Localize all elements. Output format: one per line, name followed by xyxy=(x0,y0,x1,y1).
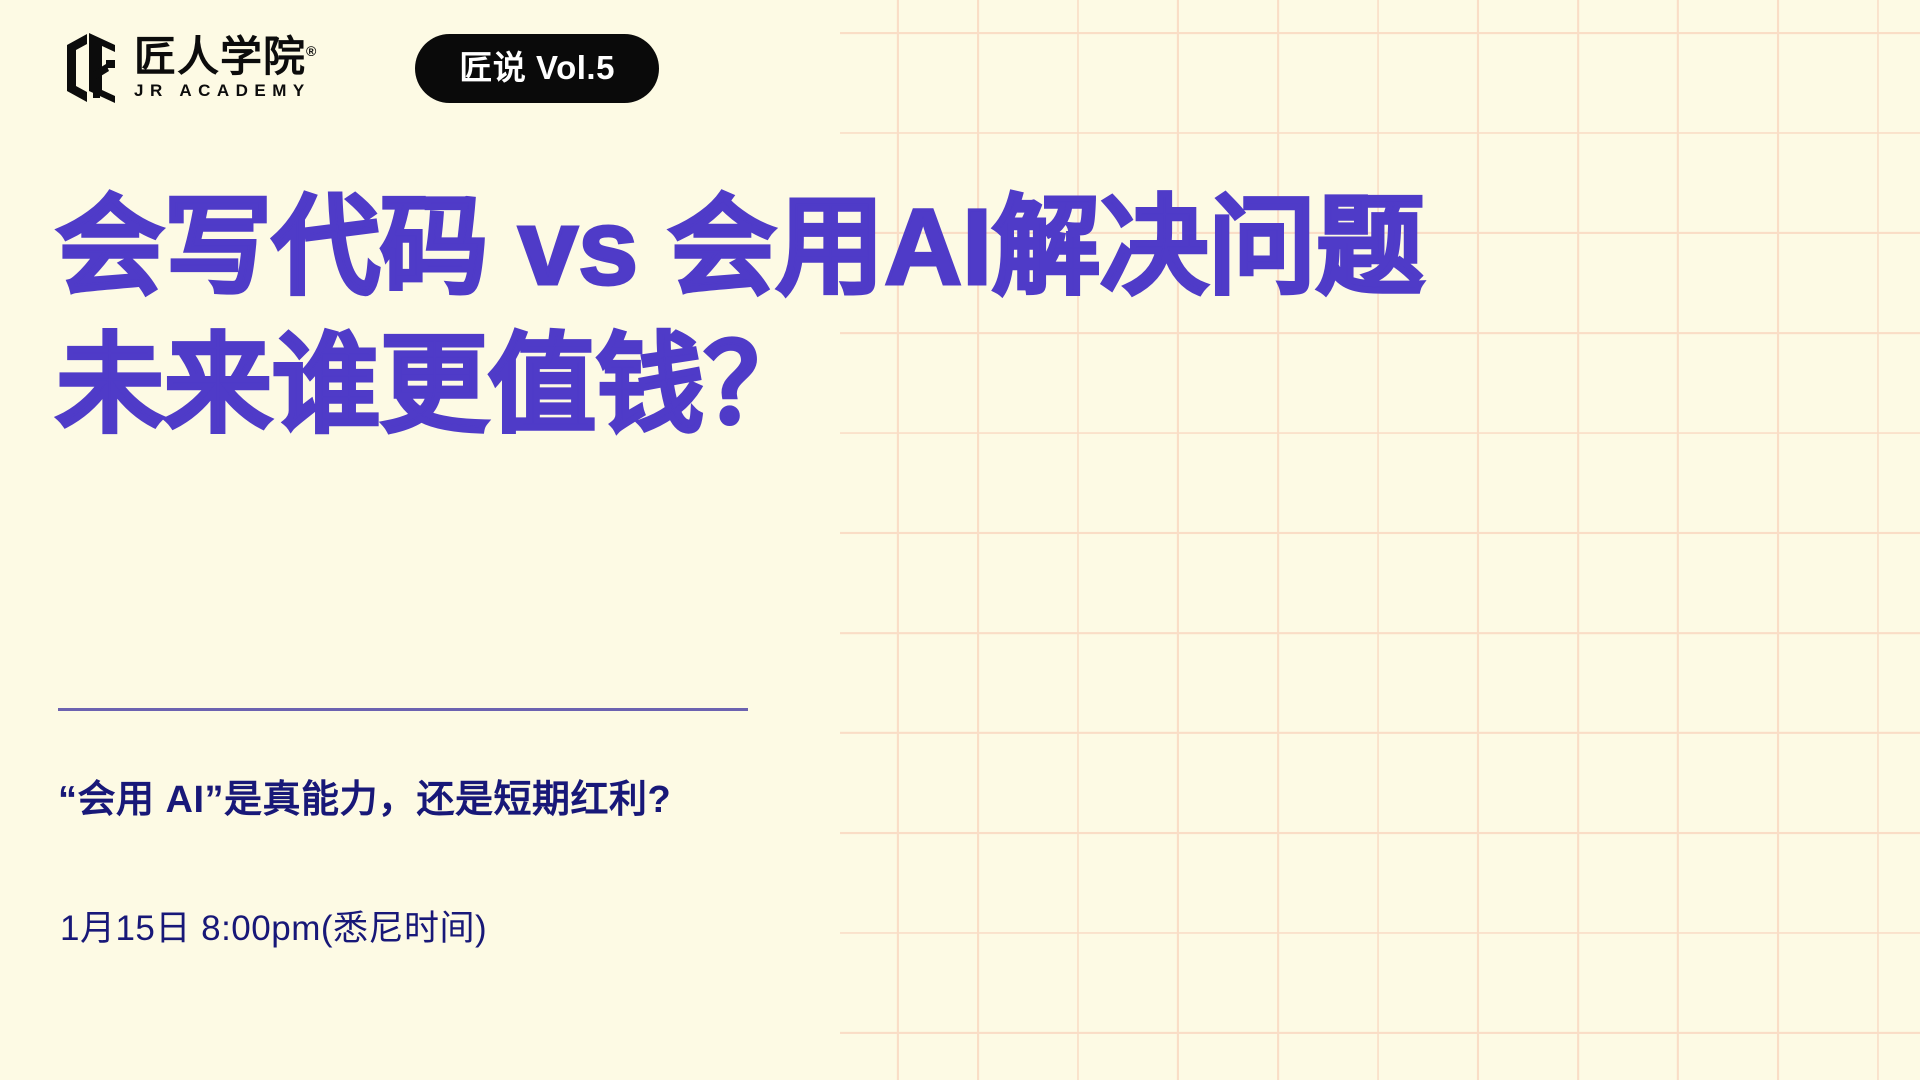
background-grid-decoration xyxy=(840,0,1920,1080)
brand-name-cn: 匠人学院® xyxy=(134,35,317,79)
brand-logo: 匠人学院® JR ACADEMY xyxy=(62,32,317,104)
brand-name-en: JR ACADEMY xyxy=(134,82,311,101)
headline-line-2: 未来谁更值钱？ xyxy=(56,316,1656,454)
jr-cube-logo-icon xyxy=(62,32,120,104)
registered-trademark-icon: ® xyxy=(306,43,317,59)
poster-content: 匠人学院® JR ACADEMY 匠说 Vol.5 会写代码 vs 会用AI解决… xyxy=(0,0,900,1080)
divider xyxy=(58,708,748,711)
brand-logo-text: 匠人学院® JR ACADEMY xyxy=(134,35,317,101)
schedule-text: 1月15日 8:00pm(悉尼时间) xyxy=(60,906,487,952)
series-badge: 匠说 Vol.5 xyxy=(415,34,659,103)
subtitle: “会用 AI”是真能力，还是短期红利? xyxy=(58,776,671,825)
page-title: 会写代码 vs 会用AI解决问题 未来谁更值钱？ xyxy=(56,178,1656,454)
headline-line-1: 会写代码 vs 会用AI解决问题 xyxy=(56,178,1656,316)
header: 匠人学院® JR ACADEMY 匠说 Vol.5 xyxy=(62,32,659,104)
